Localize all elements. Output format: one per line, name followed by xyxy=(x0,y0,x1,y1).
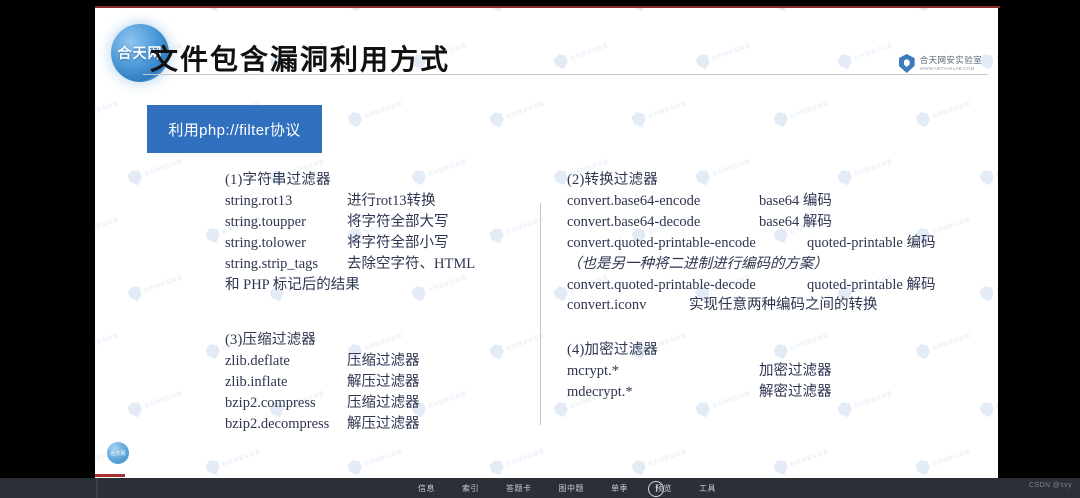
watermark-mark: 合天网安实验室 xyxy=(836,37,895,71)
section-heading: (4)加密过滤器 xyxy=(567,338,987,359)
taskbar-item-6[interactable]: 工具 xyxy=(699,483,716,494)
table-row: string.rot13 进行rot13转换 xyxy=(225,191,525,212)
title-divider xyxy=(143,74,988,75)
frame-accent-bottom-left xyxy=(95,474,125,477)
taskbar-menu[interactable]: 信息索引答题卡图中题单季预览工具 xyxy=(418,478,716,498)
filter-name: zlib.deflate xyxy=(225,351,347,372)
watermark-mark: 合天网安实验室 xyxy=(772,443,831,477)
screenshot-root: 合天网安实验室合天网安实验室合天网安实验室合天网安实验室合天网安实验室合天网安实… xyxy=(0,0,1080,498)
taskbar-item-0[interactable]: 信息 xyxy=(418,483,435,494)
watermark-mark: 合天网安实验室 xyxy=(772,8,831,14)
filter-name: mcrypt.* xyxy=(567,361,759,382)
table-row: bzip2.compress 压缩过滤器 xyxy=(225,393,525,414)
section-heading: (1)字符串过滤器 xyxy=(225,168,525,189)
watermark-mark: 合天网安实验室 xyxy=(552,37,611,71)
filter-desc: 实现任意两种编码之间的转换 xyxy=(689,295,878,316)
filter-desc: base64 解码 xyxy=(759,212,832,233)
watermark-mark: 合天网安实验室 xyxy=(914,443,973,477)
corp-logo: 合天网安实验室 WWW.HETIANLAB.COM xyxy=(899,54,982,73)
filter-desc: 压缩过滤器 xyxy=(347,393,420,414)
watermark-mark: 合天网安实验室 xyxy=(914,95,973,129)
watermark-mark: 合天网安实验室 xyxy=(694,37,753,71)
filter-desc: 将字符全部大写 xyxy=(347,212,449,233)
watermark-mark: 合天网安实验室 xyxy=(95,8,121,14)
taskbar-item-3[interactable]: 图中题 xyxy=(559,483,585,494)
filter-desc: 加密过滤器 xyxy=(759,361,832,382)
filter-desc: 去除空字符、HTML xyxy=(347,254,475,275)
taskbar-item-4[interactable]: 单季 xyxy=(611,483,628,494)
watermark-mark: 合天网安实验室 xyxy=(126,385,185,419)
bottom-taskbar: 信息索引答题卡图中题单季预览工具 CSDN @svy xyxy=(0,478,1080,498)
watermark-mark: 合天网安实验室 xyxy=(126,269,185,303)
right-column: (2)转换过滤器 convert.base64-encode base64 编码… xyxy=(567,168,987,403)
watermark-mark: 合天网安实验室 xyxy=(346,95,405,129)
corp-name: 合天网安实验室 xyxy=(920,56,982,65)
watermark-mark: 合天网安实验室 xyxy=(346,443,405,477)
table-row: convert.base64-encode base64 编码 xyxy=(567,191,987,212)
letterbox-left xyxy=(0,0,95,498)
filter-name: convert.quoted-printable-decode xyxy=(567,275,807,296)
frame-accent-top xyxy=(95,6,1000,8)
left-column: (1)字符串过滤器 string.rot13 进行rot13转换 string.… xyxy=(225,168,525,435)
taskbar-separator xyxy=(96,478,98,498)
watermark-mark: 合天网安实验室 xyxy=(95,211,121,245)
shield-icon xyxy=(899,54,915,73)
table-row: zlib.inflate 解压过滤器 xyxy=(225,372,525,393)
filter-name: convert.iconv xyxy=(567,295,689,316)
callout-label: 利用php://filter协议 xyxy=(168,119,300,140)
filter-name: zlib.inflate xyxy=(225,372,347,393)
watermark-mark: 合天网安实验室 xyxy=(95,327,121,361)
filter-name: string.rot13 xyxy=(225,191,347,212)
filter-desc: 解密过滤器 xyxy=(759,382,832,403)
watermark-mark: 合天网安实验室 xyxy=(630,8,689,14)
table-row: convert.iconv 实现任意两种编码之间的转换 xyxy=(567,295,987,316)
section-convert-filters: (2)转换过滤器 convert.base64-encode base64 编码… xyxy=(567,168,987,316)
column-divider xyxy=(540,203,541,425)
letterbox-right xyxy=(998,0,1080,498)
table-row: convert.base64-decode base64 解码 xyxy=(567,212,987,233)
section-crypt-filters: (4)加密过滤器 mcrypt.* 加密过滤器 mdecrypt.* 解密过滤器 xyxy=(567,338,987,403)
watermark-mark: 合天网安实验室 xyxy=(630,95,689,129)
filter-name: string.tolower xyxy=(225,233,347,254)
corp-url: WWW.HETIANLAB.COM xyxy=(920,66,982,71)
filter-desc: quoted-printable 编码 xyxy=(807,233,935,254)
footer-brand-label: 合天网 xyxy=(110,450,125,457)
filter-desc: 解压过滤器 xyxy=(347,414,420,435)
taskbar-item-1[interactable]: 索引 xyxy=(462,483,479,494)
filter-desc: 解压过滤器 xyxy=(347,372,420,393)
filter-name: bzip2.decompress xyxy=(225,414,347,435)
section-spacer xyxy=(225,295,525,328)
filter-name: string.strip_tags xyxy=(225,254,347,275)
section-heading: (3)压缩过滤器 xyxy=(225,328,525,349)
page-title: 文件包含漏洞利用方式 xyxy=(150,38,450,78)
table-row: string.toupper 将字符全部大写 xyxy=(225,212,525,233)
watermark-mark: 合天网安实验室 xyxy=(95,95,121,129)
watermark-mark: 合天网安实验室 xyxy=(630,443,689,477)
table-row: convert.quoted-printable-decode quoted-p… xyxy=(567,275,987,296)
filter-name: convert.base64-decode xyxy=(567,212,759,233)
filter-desc: 压缩过滤器 xyxy=(347,351,420,372)
section-continuation-text: 和 PHP 标记后的结果 xyxy=(225,275,525,296)
filter-desc: base64 编码 xyxy=(759,191,832,212)
presentation-slide: 合天网安实验室合天网安实验室合天网安实验室合天网安实验室合天网安实验室合天网安实… xyxy=(95,8,1000,478)
table-row: string.strip_tags 去除空字符、HTML xyxy=(225,254,525,275)
filter-desc: 将字符全部小写 xyxy=(347,233,449,254)
footer-brand-orb: 合天网 xyxy=(107,442,129,464)
filter-name: bzip2.compress xyxy=(225,393,347,414)
watermark-mark: 合天网安实验室 xyxy=(914,8,973,14)
filter-desc: quoted-printable 解码 xyxy=(807,275,935,296)
table-row: zlib.deflate 压缩过滤器 xyxy=(225,351,525,372)
section-note: （也是另一种将二进制进行编码的方案） xyxy=(567,254,987,275)
table-row: bzip2.decompress 解压过滤器 xyxy=(225,414,525,435)
table-row: mcrypt.* 加密过滤器 xyxy=(567,361,987,382)
taskbar-item-2[interactable]: 答题卡 xyxy=(506,483,532,494)
section-spacer xyxy=(567,316,987,338)
table-row: string.tolower 将字符全部小写 xyxy=(225,233,525,254)
filter-name: string.toupper xyxy=(225,212,347,233)
watermark-mark: 合天网安实验室 xyxy=(204,8,263,14)
callout-box: 利用php://filter协议 xyxy=(147,105,322,153)
watermark-mark: 合天网安实验室 xyxy=(772,95,831,129)
section-string-filters: (1)字符串过滤器 string.rot13 进行rot13转换 string.… xyxy=(225,168,525,295)
corp-logo-text: 合天网安实验室 WWW.HETIANLAB.COM xyxy=(920,56,982,70)
filter-name: mdecrypt.* xyxy=(567,382,759,403)
filter-name: convert.base64-encode xyxy=(567,191,759,212)
watermark-mark: 合天网安实验室 xyxy=(204,443,263,477)
section-compress-filters: (3)压缩过滤器 zlib.deflate 压缩过滤器 zlib.inflate… xyxy=(225,328,525,435)
table-row: convert.quoted-printable-encode quoted-p… xyxy=(567,233,987,254)
table-row: mdecrypt.* 解密过滤器 xyxy=(567,382,987,403)
filter-desc: 进行rot13转换 xyxy=(347,191,436,212)
watermark-mark: 合天网安实验室 xyxy=(488,443,547,477)
filter-name: convert.quoted-printable-encode xyxy=(567,233,807,254)
power-icon[interactable] xyxy=(648,481,664,497)
watermark-mark: 合天网安实验室 xyxy=(346,8,405,14)
section-heading: (2)转换过滤器 xyxy=(567,168,987,189)
watermark-mark: 合天网安实验室 xyxy=(488,95,547,129)
watermark-mark: 合天网安实验室 xyxy=(488,8,547,14)
csdn-watermark: CSDN @svy xyxy=(1029,482,1072,489)
watermark-mark: 合天网安实验室 xyxy=(126,153,185,187)
